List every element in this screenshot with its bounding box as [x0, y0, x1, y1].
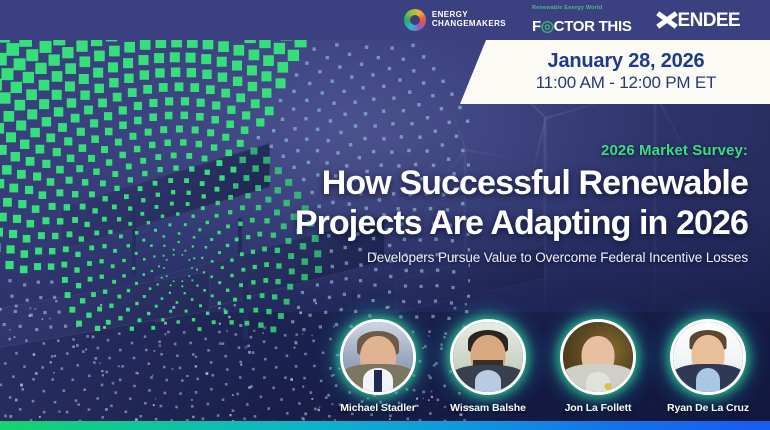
- logo-factor-this: Renewable Energy World F◎CTOR THIS: [532, 6, 632, 34]
- webinar-date: January 28, 2026: [548, 50, 705, 73]
- factor-this-main-before: F: [532, 18, 541, 35]
- avatar: [670, 319, 746, 395]
- factor-this-main-after: CTOR THIS: [554, 18, 632, 35]
- speaker-row: Michael Stadler Wissam Balshe Jon La Fo: [330, 319, 756, 414]
- speaker-jon-la-follett: Jon La Follett: [550, 319, 646, 414]
- energy-changemakers-line2: CHANGEMAKERS: [432, 19, 506, 28]
- factor-this-target-icon: ◎: [541, 18, 554, 35]
- logo-header-bar: ENERGY CHANGEMAKERS Renewable Energy Wor…: [0, 0, 770, 40]
- avatar: [340, 319, 416, 395]
- date-time-banner: January 28, 2026 11:00 AM - 12:00 PM ET: [460, 40, 770, 104]
- speaker-name: Jon La Follett: [565, 402, 632, 414]
- headline-title-line-2: Projects Are Adapting in 2026: [203, 203, 748, 243]
- logo-energy-changemakers: ENERGY CHANGEMAKERS: [404, 9, 506, 31]
- speaker-name: Michael Stadler: [340, 402, 416, 414]
- webinar-time: 11:00 AM - 12:00 PM ET: [536, 73, 716, 93]
- xendee-wordmark: ENDEE: [678, 11, 740, 30]
- avatar: [560, 319, 636, 395]
- webinar-promo-graphic: ENERGY CHANGEMAKERS Renewable Energy Wor…: [0, 0, 770, 430]
- speaker-michael-stadler: Michael Stadler: [330, 319, 426, 414]
- speaker-wissam-balshe: Wissam Balshe: [440, 319, 536, 414]
- headline-eyebrow: 2026 Market Survey:: [203, 143, 748, 160]
- energy-changemakers-swirl-icon: [404, 9, 426, 31]
- avatar: [450, 319, 526, 395]
- headline-title-line-1: How Successful Renewable: [203, 163, 748, 203]
- xendee-x-icon: [658, 11, 677, 30]
- bottom-gradient-bar: [0, 421, 770, 430]
- energy-changemakers-line1: ENERGY: [432, 10, 468, 19]
- speaker-ryan-de-la-cruz: Ryan De La Cruz: [660, 319, 756, 414]
- logo-xendee: ENDEE: [658, 11, 740, 30]
- speaker-name: Ryan De La Cruz: [667, 402, 749, 414]
- speaker-name: Wissam Balshe: [450, 402, 526, 414]
- factor-this-kicker: Renewable Energy World: [532, 6, 602, 12]
- headline-subtitle: Developers Pursue Value to Overcome Fede…: [203, 250, 748, 265]
- headline-block: 2026 Market Survey: How Successful Renew…: [203, 143, 748, 265]
